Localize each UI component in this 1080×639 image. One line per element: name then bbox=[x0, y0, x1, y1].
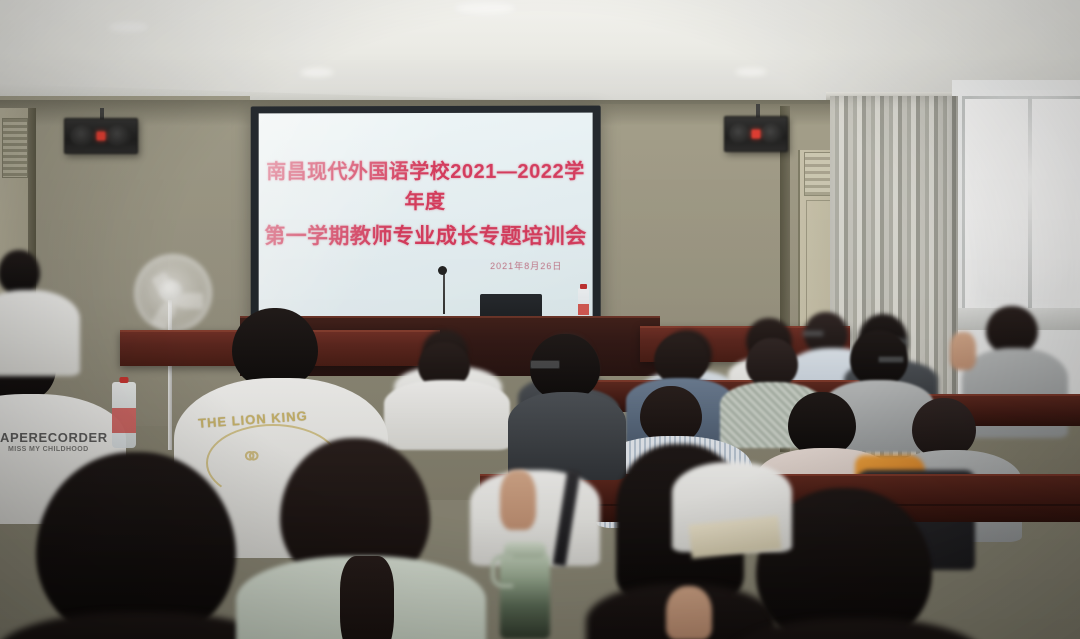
photo-scene: 南昌现代外国语学校2021—2022学年度 第一学期教师专业成长专题培训会 20… bbox=[0, 0, 1080, 639]
ceiling-light-1 bbox=[108, 22, 148, 32]
projection-screen-frame: 南昌现代外国语学校2021—2022学年度 第一学期教师专业成长专题培训会 20… bbox=[251, 106, 601, 329]
thermos-handle bbox=[491, 554, 513, 588]
bottle-label bbox=[578, 304, 589, 315]
projection-screen: 南昌现代外国语学校2021—2022学年度 第一学期教师专业成长专题培训会 20… bbox=[259, 113, 593, 322]
slide-title-line2: 第一学期教师专业成长专题培训会 bbox=[259, 221, 593, 253]
person-head bbox=[912, 398, 976, 458]
water-bottle-left bbox=[112, 382, 136, 448]
person-head bbox=[36, 452, 236, 639]
green-thermos bbox=[500, 552, 550, 639]
person-head bbox=[746, 338, 798, 388]
microphone-icon bbox=[438, 266, 447, 275]
person-head bbox=[788, 392, 856, 456]
speaker-cone-left-a bbox=[70, 125, 96, 147]
ceiling-light-3 bbox=[455, 2, 515, 14]
person-head bbox=[654, 334, 708, 384]
fan-hub bbox=[160, 280, 182, 302]
person-head bbox=[986, 306, 1038, 354]
wall-vent-left bbox=[2, 118, 28, 178]
person-head bbox=[0, 250, 40, 294]
person-head bbox=[232, 308, 318, 388]
microphone-stand bbox=[443, 272, 445, 314]
person-body bbox=[0, 290, 80, 376]
lion-graphic-icon: ⚭ bbox=[240, 440, 263, 473]
wall-speaker-right bbox=[724, 116, 788, 152]
person-body bbox=[508, 392, 626, 480]
bottle-cap-icon bbox=[120, 377, 129, 383]
bottle-label bbox=[112, 408, 136, 433]
slide-title-line1: 南昌现代外国语学校2021—2022学年度 bbox=[259, 157, 593, 217]
tshirt-text-line2: MISS MY CHILDHOOD bbox=[8, 446, 89, 453]
glasses-icon bbox=[878, 356, 904, 363]
wall-speaker-left bbox=[64, 118, 138, 154]
speaker-led-icon-right bbox=[752, 130, 761, 139]
slide-date: 2021年8月26日 bbox=[490, 259, 562, 272]
slide-title: 南昌现代外国语学校2021—2022学年度 第一学期教师专业成长专题培训会 bbox=[259, 157, 593, 253]
window[interactable] bbox=[962, 96, 1080, 314]
ponytail-icon bbox=[340, 556, 394, 639]
window-mullion bbox=[1028, 96, 1032, 308]
clapping-hand-icon bbox=[500, 470, 536, 530]
bottle-cap-icon bbox=[580, 284, 587, 289]
ceiling-light-4 bbox=[735, 68, 767, 76]
ceiling-light-2 bbox=[300, 68, 334, 77]
tshirt-text-line1: APERECORDER bbox=[0, 430, 108, 445]
speaker-cone-right-b bbox=[761, 123, 783, 145]
clapping-hands-icon bbox=[950, 332, 976, 370]
person-body bbox=[384, 380, 510, 450]
speaker-led-icon-left bbox=[97, 132, 106, 141]
glasses-icon bbox=[530, 360, 560, 369]
speaker-cone-right-a bbox=[729, 123, 751, 145]
speaker-cone-left-b bbox=[106, 125, 132, 147]
raised-hand-icon bbox=[666, 586, 712, 639]
glasses-icon bbox=[802, 330, 824, 337]
